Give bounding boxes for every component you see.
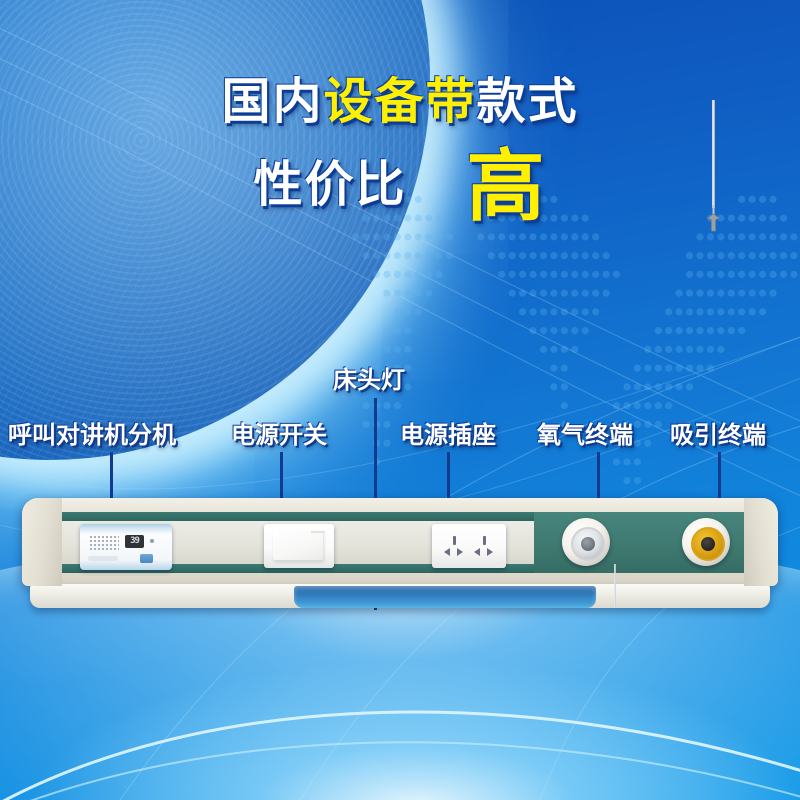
speaker-grille-icon bbox=[89, 535, 119, 551]
promo-banner: {} 国内设备带款式 性价比高 呼叫对讲机分机 电源开关 床头灯 电源插座 氧气… bbox=[0, 0, 800, 800]
suction-terminal-ring bbox=[691, 527, 725, 561]
panel-end-cap-right bbox=[744, 498, 778, 586]
terminal-tube-left bbox=[614, 564, 616, 608]
socket-prong-left-icon bbox=[444, 548, 450, 556]
socket-outlet-right[interactable] bbox=[472, 536, 498, 558]
intercom-display: 39 bbox=[125, 535, 144, 548]
status-led-icon bbox=[150, 539, 154, 543]
nurse-call-intercom[interactable]: 39 bbox=[80, 524, 172, 570]
callout-label-oxygen: 氧气终端 bbox=[537, 415, 633, 450]
socket-outlet-left[interactable] bbox=[442, 536, 468, 558]
pull-cord[interactable] bbox=[712, 100, 715, 208]
socket-prong-right-icon bbox=[457, 548, 463, 556]
panel-body: 39 bbox=[22, 498, 778, 586]
oxygen-terminal[interactable] bbox=[562, 518, 610, 566]
panel-end-cap-left bbox=[22, 498, 62, 586]
callout-label-intercom: 呼叫对讲机分机 bbox=[8, 415, 176, 450]
suction-terminal-port-icon bbox=[701, 537, 715, 551]
switch-rocker[interactable] bbox=[273, 531, 323, 560]
callout-label-suction: 吸引终端 bbox=[670, 415, 766, 450]
pull-cord-handle-icon[interactable] bbox=[703, 205, 724, 235]
socket-prong-left-icon bbox=[474, 548, 480, 556]
callout-label-bedlamp: 床头灯 bbox=[333, 360, 405, 395]
intercom-call-button[interactable] bbox=[140, 554, 153, 563]
socket-slot-icon bbox=[453, 536, 456, 545]
suction-terminal[interactable] bbox=[682, 518, 730, 566]
bedside-lamp-diffuser[interactable] bbox=[294, 586, 596, 608]
socket-prong-right-icon bbox=[487, 548, 493, 556]
callout-label-socket: 电源插座 bbox=[400, 415, 496, 450]
power-switch[interactable] bbox=[264, 524, 334, 568]
bed-head-unit-panel: 39 bbox=[22, 498, 778, 616]
switch-marking bbox=[311, 531, 325, 533]
oxygen-terminal-port-icon bbox=[581, 537, 595, 551]
power-socket[interactable] bbox=[432, 524, 506, 568]
intercom-slot bbox=[88, 556, 118, 561]
callout-label-switch: 电源开关 bbox=[231, 415, 327, 450]
oxygen-terminal-ring bbox=[571, 527, 605, 561]
callout-layer: 呼叫对讲机分机 电源开关 床头灯 电源插座 氧气终端 吸引终端 bbox=[0, 0, 800, 800]
socket-slot-icon bbox=[483, 536, 486, 545]
